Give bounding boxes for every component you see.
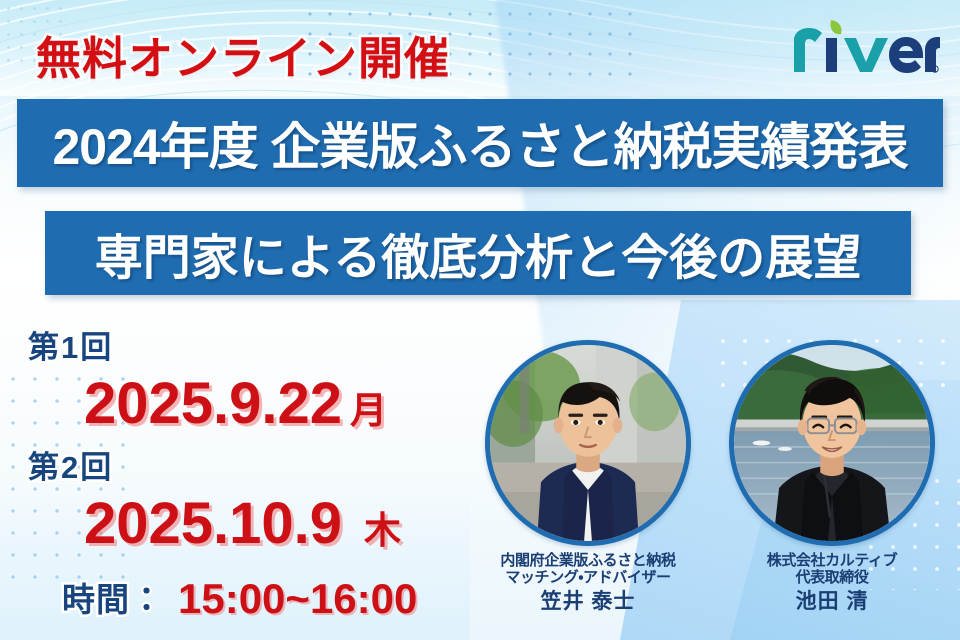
speaker-2: 株式会社カルティブ 代表取締役 池田 清 <box>722 340 942 613</box>
session-2: 第2回 2025.10.9木 <box>28 452 401 553</box>
session-1-weekday: 月 <box>350 390 387 431</box>
session-2-label: 第2回 <box>28 452 401 483</box>
speaker-1-avatar <box>485 340 691 546</box>
title-bar-secondary: 専門家による徹底分析と今後の展望 <box>45 211 911 295</box>
time-value: 15:00~16:00 <box>178 578 417 620</box>
speaker-1-organization: 内閣府企業版ふるさと納税 <box>478 553 698 570</box>
session-1-label: 第1回 <box>28 332 387 363</box>
time-label: 時間： <box>62 583 164 616</box>
free-online-badge: 無料オンライン開催 <box>36 22 450 87</box>
session-1-date-value: 2025.9.22 <box>84 371 342 436</box>
speaker-2-photo <box>734 345 930 541</box>
river-logo: R <box>788 18 940 74</box>
title-bar-primary: 2024年度 企業版ふるさと納税実績発表 <box>17 99 943 187</box>
speaker-1-name: 笠井 泰士 <box>478 590 698 614</box>
speaker-2-organization: 株式会社カルティブ <box>722 553 942 570</box>
speaker-1-role: マッチング・アドバイザー <box>478 570 698 587</box>
svg-text:R: R <box>933 67 936 72</box>
session-2-weekday: 木 <box>364 510 401 551</box>
speaker-2-avatar <box>729 340 935 546</box>
title-line-1: 2024年度 企業版ふるさと納税実績発表 <box>52 107 907 179</box>
speaker-2-role: 代表取締役 <box>722 570 942 587</box>
speaker-1-caption: 内閣府企業版ふるさと納税 マッチング・アドバイザー 笠井 泰士 <box>478 553 698 613</box>
speaker-2-caption: 株式会社カルティブ 代表取締役 池田 清 <box>722 553 942 613</box>
time-row: 時間： 15:00~16:00 <box>62 578 417 620</box>
webinar-banner: R 無料オンライン開催 2024年度 企業版ふるさと納税実績発表 専門家による徹… <box>0 0 960 640</box>
session-1-date: 2025.9.22月 <box>84 375 387 433</box>
speaker-2-name: 池田 清 <box>722 590 942 614</box>
session-2-date: 2025.10.9木 <box>84 495 401 553</box>
title-line-2: 専門家による徹底分析と今後の展望 <box>95 218 862 288</box>
session-1: 第1回 2025.9.22月 <box>28 332 387 433</box>
speaker-1: 内閣府企業版ふるさと納税 マッチング・アドバイザー 笠井 泰士 <box>478 340 698 613</box>
speaker-1-photo <box>490 345 686 541</box>
session-2-date-value: 2025.10.9 <box>84 491 342 556</box>
